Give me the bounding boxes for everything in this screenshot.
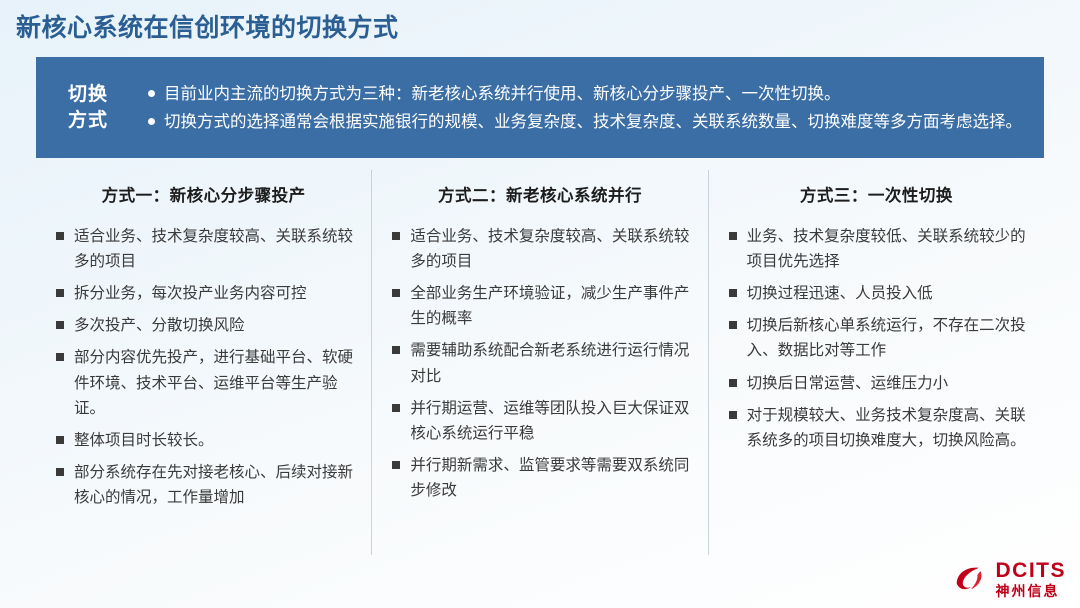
list-item-text: 部分系统存在先对接老核心、后续对接新核心的情况，工作量增加 [74,460,357,510]
method-column-2: 方式二：新老核心系统并行 适合业务、技术复杂度较高、关联系统较多的项目 全部业务… [371,170,707,555]
list-item-text: 对于规模较大、业务技术复杂度高、关联系统多的项目切换难度大，切换风险高。 [747,403,1030,453]
bullet-square-icon [729,289,737,297]
list-item: 切换后日常运营、运维压力小 [729,371,1030,396]
logo-en-text: DCITS [996,560,1067,581]
bullet-square-icon [729,232,737,240]
list-item: 拆分业务，每次投产业务内容可控 [56,281,357,306]
list-item: 部分系统存在先对接老核心、后续对接新核心的情况，工作量增加 [56,460,357,510]
list-item: 并行期新需求、监管要求等需要双系统同步修改 [392,453,693,503]
list-item: 业务、技术复杂度较低、关联系统较少的项目优先选择 [729,224,1030,274]
list-item-text: 需要辅助系统配合新老系统进行运行情况对比 [410,338,693,388]
method-column-2-title: 方式二：新老核心系统并行 [386,182,693,206]
method-column-2-list: 适合业务、技术复杂度较高、关联系统较多的项目 全部业务生产环境验证，减少生产事件… [386,224,693,503]
logo-wordmark: DCITS 神州信息 [996,560,1067,598]
bullet-square-icon [729,321,737,329]
bullet-dot-icon [148,90,155,97]
method-comparison-columns: 方式一：新核心分步骤投产 适合业务、技术复杂度较高、关联系统较多的项目 拆分业务… [36,170,1044,555]
bullet-dot-icon [148,118,155,125]
list-item: 部分内容优先投产，进行基础平台、软硬件环境、技术平台、运维平台等生产验证。 [56,345,357,420]
banner-bullet: 切换方式的选择通常会根据实施银行的规模、业务复杂度、技术复杂度、关联系统数量、切… [148,109,1024,135]
bullet-square-icon [56,232,64,240]
list-item-text: 拆分业务，每次投产业务内容可控 [74,281,357,306]
list-item: 并行期运营、运维等团队投入巨大保证双核心系统运行平稳 [392,396,693,446]
method-column-3-list: 业务、技术复杂度较低、关联系统较少的项目优先选择 切换过程迅速、人员投入低 切换… [723,224,1030,453]
bullet-square-icon [56,353,64,361]
bullet-square-icon [56,321,64,329]
bullet-square-icon [729,411,737,419]
list-item-text: 适合业务、技术复杂度较高、关联系统较多的项目 [74,224,357,274]
list-item: 适合业务、技术复杂度较高、关联系统较多的项目 [56,224,357,274]
list-item-text: 多次投产、分散切换风险 [74,313,357,338]
list-item: 适合业务、技术复杂度较高、关联系统较多的项目 [392,224,693,274]
bullet-square-icon [392,404,400,412]
method-column-1-list: 适合业务、技术复杂度较高、关联系统较多的项目 拆分业务，每次投产业务内容可控 多… [50,224,357,510]
bullet-square-icon [56,289,64,297]
list-item-text: 适合业务、技术复杂度较高、关联系统较多的项目 [410,224,693,274]
method-column-1: 方式一：新核心分步骤投产 适合业务、技术复杂度较高、关联系统较多的项目 拆分业务… [36,170,371,555]
banner-label: 切换 方式 [36,57,140,158]
banner-bullet-text: 目前业内主流的切换方式为三种：新老核心系统并行使用、新核心分步骤投产、一次性切换… [164,81,1024,107]
bullet-square-icon [56,436,64,444]
switching-method-banner: 切换 方式 目前业内主流的切换方式为三种：新老核心系统并行使用、新核心分步骤投产… [36,57,1044,158]
bullet-square-icon [392,289,400,297]
list-item: 切换过程迅速、人员投入低 [729,281,1030,306]
logo-cn-text: 神州信息 [996,584,1067,598]
list-item-text: 并行期新需求、监管要求等需要双系统同步修改 [410,453,693,503]
list-item: 需要辅助系统配合新老系统进行运行情况对比 [392,338,693,388]
company-logo: DCITS 神州信息 [952,560,1067,598]
bullet-square-icon [392,232,400,240]
dcits-swirl-icon [952,560,990,598]
list-item-text: 部分内容优先投产，进行基础平台、软硬件环境、技术平台、运维平台等生产验证。 [74,345,357,420]
banner-label-line1: 切换 [68,82,108,107]
banner-bullet: 目前业内主流的切换方式为三种：新老核心系统并行使用、新核心分步骤投产、一次性切换… [148,81,1024,107]
bullet-square-icon [729,379,737,387]
list-item: 整体项目时长较长。 [56,428,357,453]
banner-bullet-text: 切换方式的选择通常会根据实施银行的规模、业务复杂度、技术复杂度、关联系统数量、切… [164,109,1024,135]
page-title: 新核心系统在信创环境的切换方式 [16,8,399,44]
list-item-text: 切换后新核心单系统运行，不存在二次投入、数据比对等工作 [747,313,1030,363]
banner-body: 目前业内主流的切换方式为三种：新老核心系统并行使用、新核心分步骤投产、一次性切换… [140,57,1044,158]
list-item-text: 整体项目时长较长。 [74,428,357,453]
list-item-text: 全部业务生产环境验证，减少生产事件产生的概率 [410,281,693,331]
method-column-3-title: 方式三：一次性切换 [723,182,1030,206]
list-item-text: 切换过程迅速、人员投入低 [747,281,1030,306]
method-column-1-title: 方式一：新核心分步骤投产 [50,182,357,206]
bullet-square-icon [56,468,64,476]
bullet-square-icon [392,346,400,354]
list-item: 多次投产、分散切换风险 [56,313,357,338]
list-item-text: 并行期运营、运维等团队投入巨大保证双核心系统运行平稳 [410,396,693,446]
method-column-3: 方式三：一次性切换 业务、技术复杂度较低、关联系统较少的项目优先选择 切换过程迅… [708,170,1044,555]
list-item-text: 业务、技术复杂度较低、关联系统较少的项目优先选择 [747,224,1030,274]
bullet-square-icon [392,461,400,469]
list-item: 对于规模较大、业务技术复杂度高、关联系统多的项目切换难度大，切换风险高。 [729,403,1030,453]
list-item: 切换后新核心单系统运行，不存在二次投入、数据比对等工作 [729,313,1030,363]
list-item: 全部业务生产环境验证，减少生产事件产生的概率 [392,281,693,331]
list-item-text: 切换后日常运营、运维压力小 [747,371,1030,396]
banner-label-line2: 方式 [68,108,108,133]
